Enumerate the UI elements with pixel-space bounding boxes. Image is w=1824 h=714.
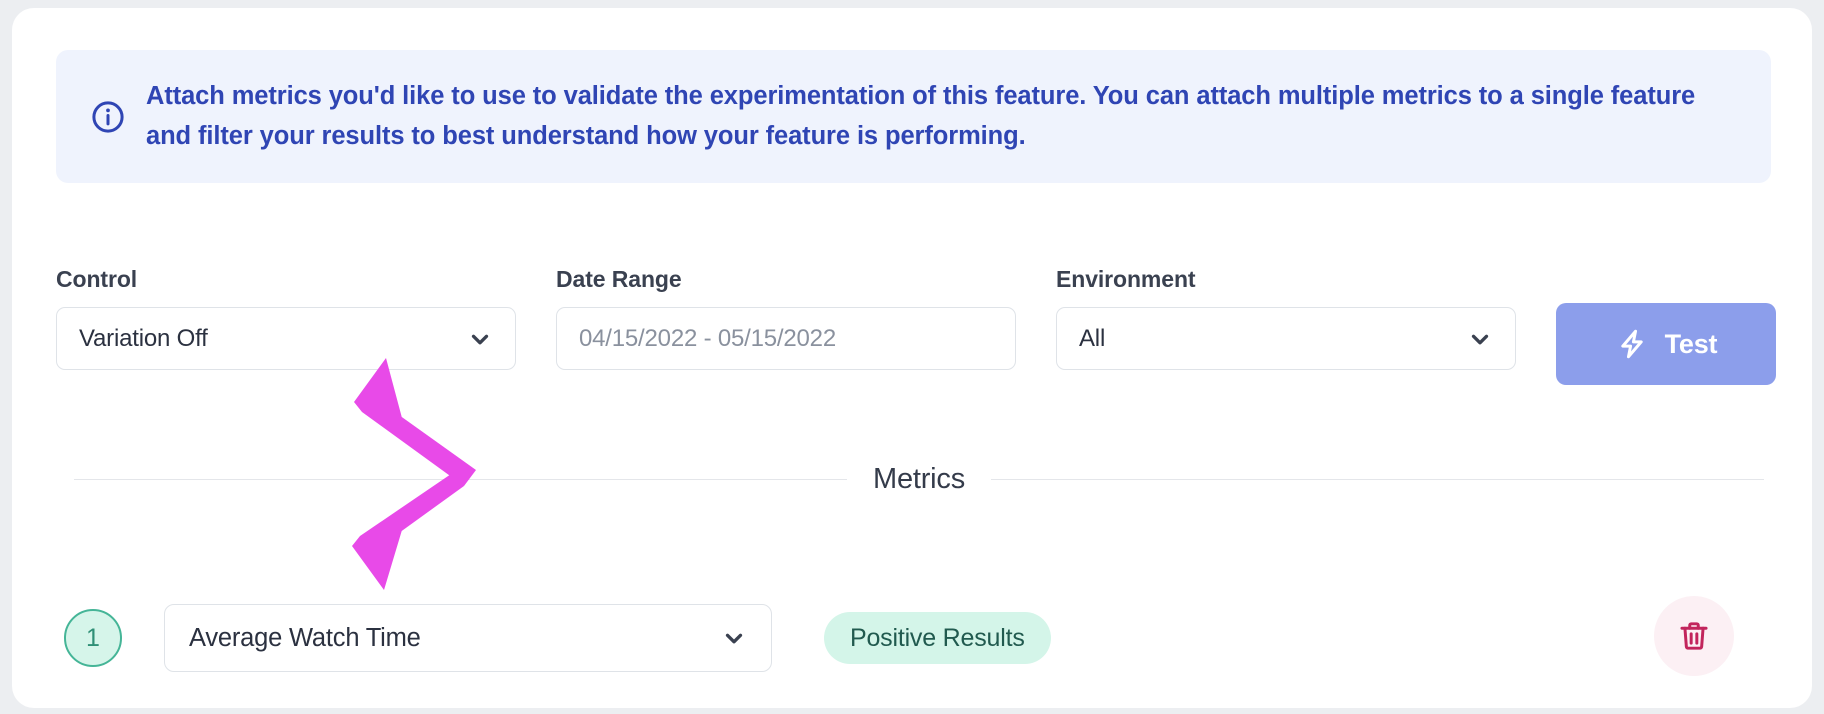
lightning-bolt-icon [1615,327,1649,361]
date-range-input[interactable]: 04/15/2022 - 05/15/2022 [556,307,1016,370]
trash-icon [1677,619,1711,653]
control-field: Control Variation Off [56,266,516,370]
control-value: Variation Off [79,325,467,353]
info-banner-text: Attach metrics you'd like to use to vali… [146,77,1706,157]
metric-name-value: Average Watch Time [189,624,721,653]
delete-metric-button[interactable] [1654,596,1734,676]
divider-line-right [991,479,1764,481]
control-label: Control [56,266,516,293]
date-range-field: Date Range 04/15/2022 - 05/15/2022 [556,266,1016,370]
environment-select[interactable]: All [1056,307,1516,370]
metric-row: 1 Average Watch Time Positive Results [56,588,1776,688]
info-circle-icon [90,99,126,135]
status-badge: Positive Results [824,612,1051,664]
metrics-title: Metrics [873,463,965,496]
divider-line-left [74,479,847,481]
test-button[interactable]: Test [1556,303,1776,385]
test-button-label: Test [1665,329,1718,360]
environment-label: Environment [1056,266,1516,293]
chevron-down-icon [1467,326,1493,352]
chevron-down-icon [721,625,747,651]
chevron-down-icon [467,326,493,352]
date-range-label: Date Range [556,266,1016,293]
metrics-divider: Metrics [74,463,1764,496]
date-range-value: 04/15/2022 - 05/15/2022 [579,325,993,353]
metrics-page-card: Attach metrics you'd like to use to vali… [12,8,1812,708]
metric-select[interactable]: Average Watch Time [164,604,772,672]
metric-index-badge: 1 [64,609,122,667]
control-select[interactable]: Variation Off [56,307,516,370]
info-banner: Attach metrics you'd like to use to vali… [56,50,1771,183]
environment-field: Environment All [1056,266,1516,370]
environment-value: All [1079,325,1467,353]
filter-row: Control Variation Off Date Range 04/15/2… [56,266,1776,386]
